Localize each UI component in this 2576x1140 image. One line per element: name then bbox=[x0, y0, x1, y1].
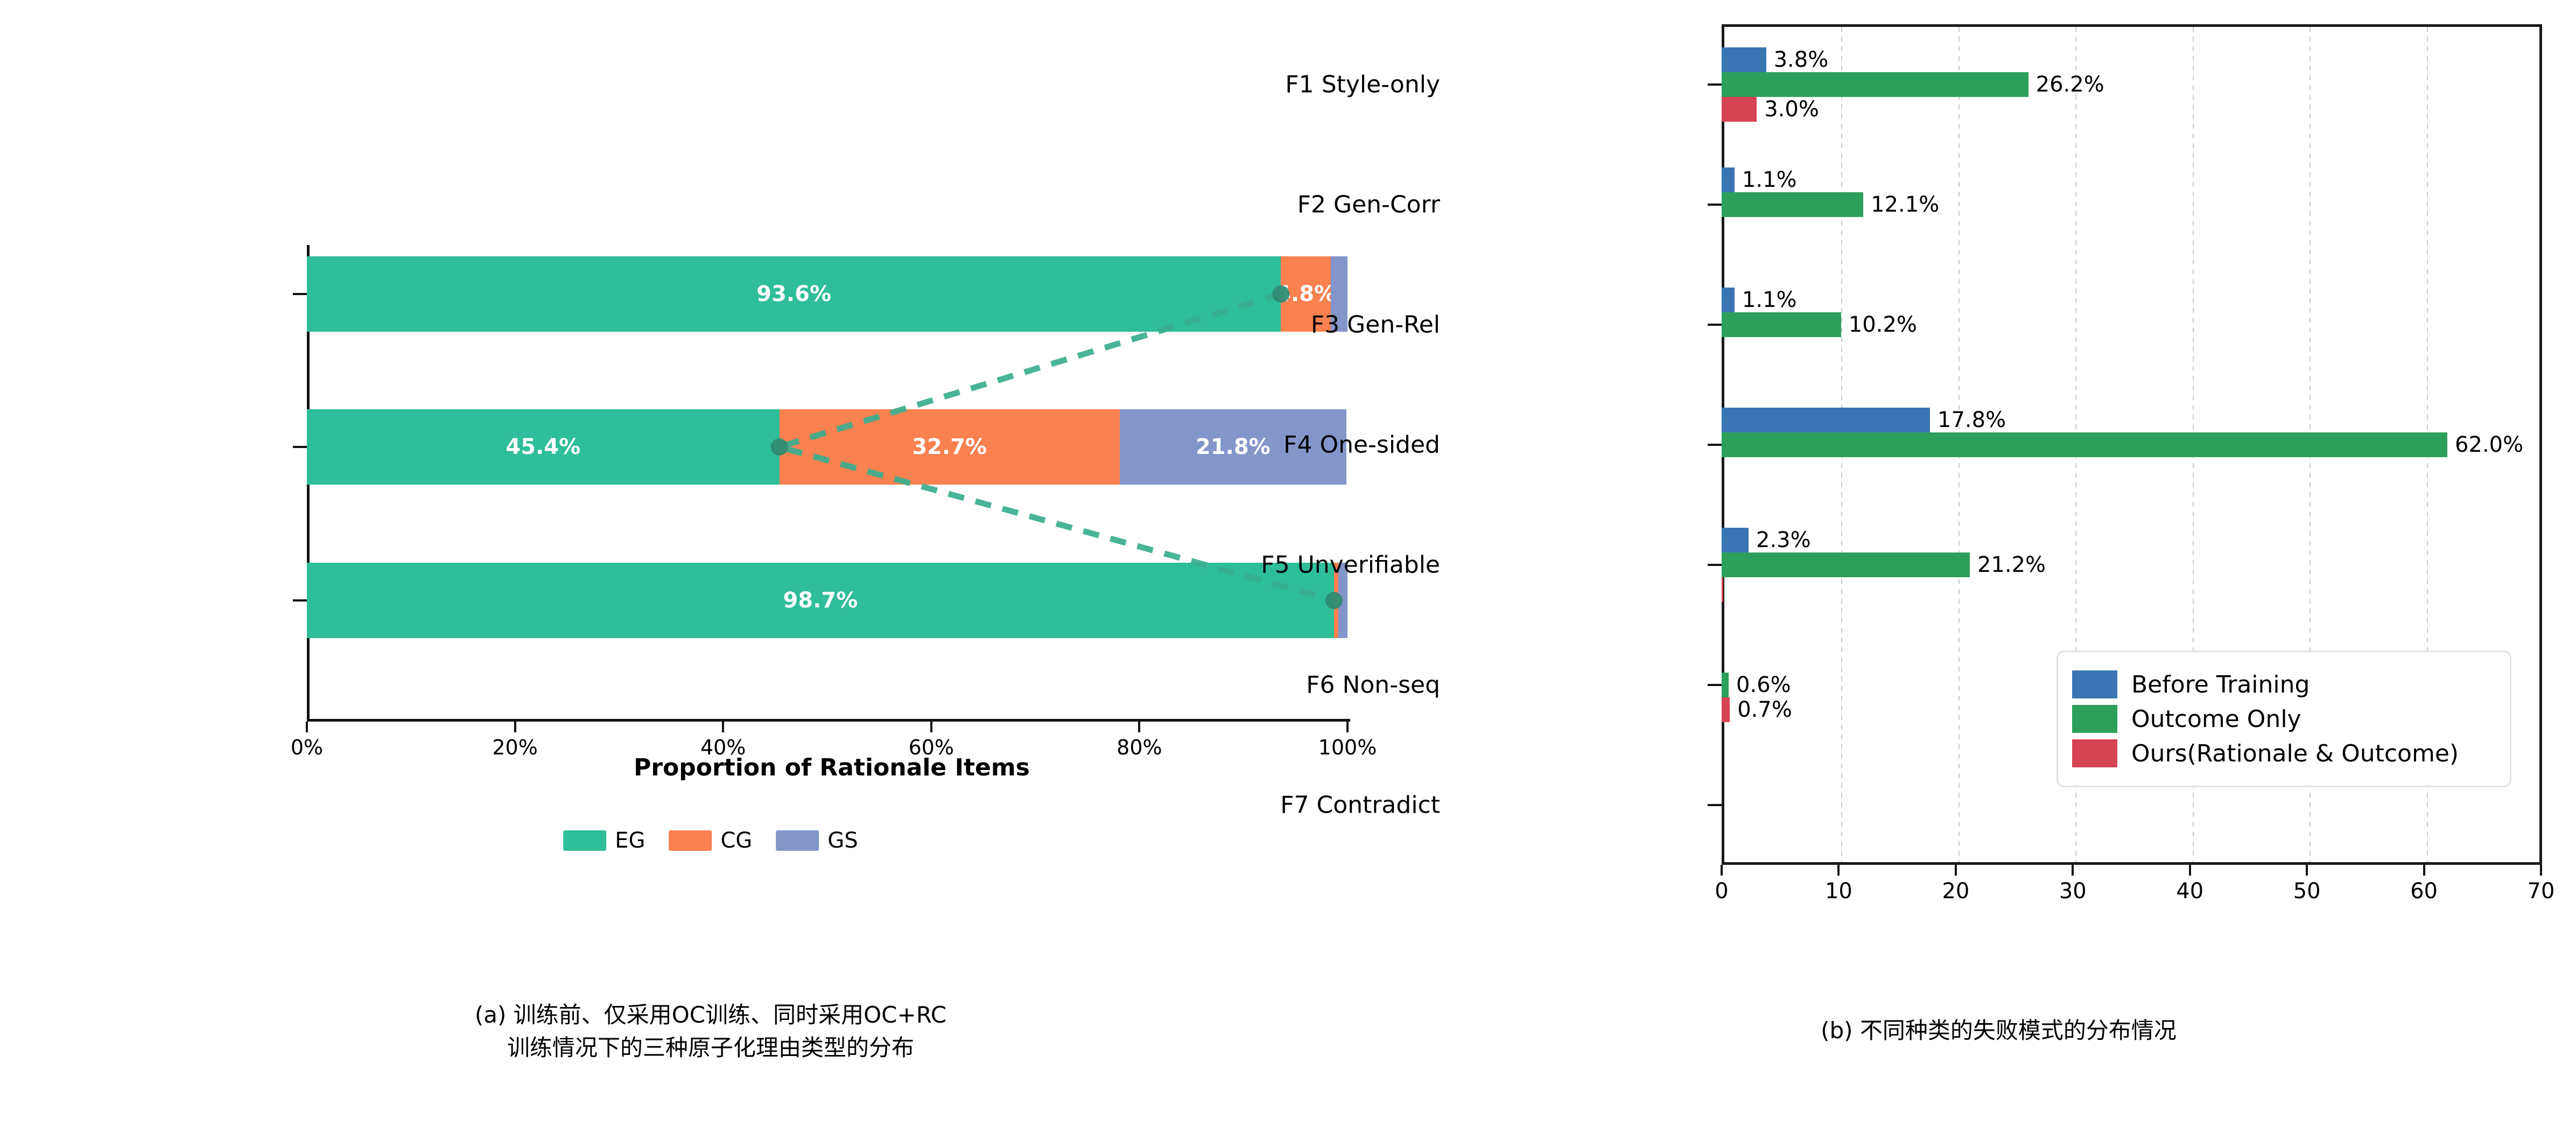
panel-b-bar bbox=[1722, 72, 2028, 97]
panel-b-y-label-1: F1 Style-only bbox=[1285, 71, 1440, 98]
panel-b-y-label-6: F6 Non-seq bbox=[1306, 671, 1440, 698]
panel-b-bar bbox=[1722, 192, 1863, 217]
panel-b-y-tick-mark bbox=[1708, 804, 1722, 806]
panel-b-bar bbox=[1722, 312, 1841, 337]
panel-b-legend-label: Before Training bbox=[2131, 671, 2310, 698]
panel-a-legend-swatch-cg bbox=[669, 830, 712, 851]
panel-a-bar-value-label: 4.8% bbox=[1276, 282, 1336, 306]
panel-b-x-tick-label: 10 bbox=[1825, 879, 1852, 904]
panel-b-y-tick-mark bbox=[1708, 564, 1722, 566]
panel-b-bar-value-label: 2.3% bbox=[1756, 528, 1811, 552]
panel-a-legend-label: CG bbox=[720, 828, 752, 853]
panel-a-x-tick-label: 20% bbox=[492, 736, 537, 759]
panel-b-x-tick-mark bbox=[2423, 865, 2425, 876]
panel-a-bar-value-label: 93.6% bbox=[756, 282, 831, 306]
panel-a-legend-swatch-eg bbox=[563, 830, 606, 851]
panel-b-bar bbox=[1722, 697, 1730, 722]
panel-a-caption: (a) 训练前、仅采用OC训练、同时采用OC+RC 训练情况下的三种原子化理由类… bbox=[0, 999, 1421, 1065]
panel-b-legend-item[interactable]: Ours(Rationale & Outcome) bbox=[2072, 739, 2496, 767]
panel-b-bar bbox=[1722, 552, 1970, 577]
panel-a-bar-segment-eg: 45.4% bbox=[307, 409, 780, 485]
panel-a-legend-swatch-gs bbox=[776, 830, 819, 851]
panel-a-legend: EGCGGS bbox=[563, 828, 858, 853]
panel-a-x-tick-mark bbox=[722, 722, 724, 732]
panel-a-x-tick-label: 80% bbox=[1117, 736, 1162, 759]
panel-b-legend: Before TrainingOutcome OnlyOurs(Rational… bbox=[2056, 651, 2511, 787]
panel-a-legend-item-eg[interactable]: EG bbox=[563, 828, 645, 853]
panel-b-y-tick-mark bbox=[1708, 83, 1722, 86]
panel-b-x-tick-label: 0 bbox=[1715, 879, 1728, 904]
panel-b-legend-swatch bbox=[2072, 739, 2117, 767]
panel-b-legend-swatch bbox=[2072, 670, 2117, 698]
panel-a-legend-item-gs[interactable]: GS bbox=[776, 828, 858, 853]
panel-a-caption-line-1: (a) 训练前、仅采用OC训练、同时采用OC+RC bbox=[0, 999, 1421, 1032]
panel-a-bar-segment-eg: 98.7% bbox=[307, 563, 1334, 638]
panel-b-bar bbox=[1722, 288, 1735, 312]
panel-b-y-label-2: F2 Gen-Corr bbox=[1297, 191, 1440, 218]
panel-b-x-tick-label: 50 bbox=[2293, 879, 2321, 904]
panel-a-bar-row: 93.6%4.8% bbox=[307, 256, 1347, 332]
panel-b-legend-swatch bbox=[2072, 705, 2117, 733]
panel-b-x-tick-mark bbox=[2189, 865, 2191, 876]
panel-b-bar bbox=[1722, 577, 1723, 602]
panel-b-bar-value-label: 0.6% bbox=[1736, 673, 1791, 697]
panel-a-legend-label: GS bbox=[827, 828, 858, 853]
panel-b-y-tick-mark bbox=[1708, 324, 1722, 326]
panel-b-legend-label: Outcome Only bbox=[2131, 705, 2301, 733]
panel-b-caption: (b) 不同种类的失败模式的分布情况 bbox=[1421, 1012, 2576, 1045]
panel-a-x-tick-mark bbox=[1138, 722, 1140, 732]
panel-b-bar-value-label: 3.8% bbox=[1774, 47, 1829, 72]
panel-b-x-tick-label: 20 bbox=[1942, 879, 1969, 904]
panel-a-legend-item-cg[interactable]: CG bbox=[669, 828, 752, 853]
panel-b-bar bbox=[1722, 97, 1757, 122]
panel-b-x-tick-label: 70 bbox=[2528, 879, 2555, 904]
panel-b-legend-item[interactable]: Outcome Only bbox=[2072, 705, 2496, 733]
panel-a-bar-row: 45.4%32.7%21.8% bbox=[307, 409, 1347, 485]
panel-b-bar bbox=[1722, 47, 1766, 72]
panel-b-bar-value-label: 1.1% bbox=[1742, 167, 1797, 192]
panel-b-bar-value-label: 1.1% bbox=[1742, 288, 1797, 312]
panel-b-bar bbox=[1722, 528, 1749, 552]
panel-b-bar-value-label: 10.2% bbox=[1849, 312, 1917, 337]
panel-b-y-label-3: F3 Gen-Rel bbox=[1311, 311, 1440, 338]
panel-a-x-tick-mark bbox=[1346, 722, 1349, 732]
panel-a-y-tick-mark bbox=[293, 446, 307, 448]
panel-a-x-axis-line bbox=[307, 719, 1350, 722]
panel-b-x-tick-label: 30 bbox=[2059, 879, 2087, 904]
panel-b-bar-value-label: 0.7% bbox=[1737, 697, 1792, 722]
panel-b-x-tick-mark bbox=[2072, 865, 2074, 876]
panel-b-y-tick-mark bbox=[1708, 444, 1722, 446]
panel-b-x-tick-mark bbox=[1721, 865, 1723, 876]
figure-root: Base ModelOC-OnlyOurs(OC+RC) 0%20%40%60%… bbox=[0, 0, 2576, 1140]
panel-a-x-tick-mark bbox=[306, 722, 308, 732]
panel-b-bar bbox=[1722, 167, 1735, 192]
panel-a-x-tick-mark bbox=[514, 722, 516, 732]
panel-b-bar-value-label: 17.8% bbox=[1938, 408, 2006, 432]
panel-a-x-tick-label: 0% bbox=[291, 736, 323, 759]
panel-b-grouped-bar-chart: F1 Style-onlyF2 Gen-CorrF3 Gen-RelF4 One… bbox=[1421, 0, 2576, 1140]
panel-a-legend-label: EG bbox=[615, 828, 645, 853]
panel-a-x-tick-label: 100% bbox=[1318, 736, 1377, 759]
panel-a-bar-segment-eg: 93.6% bbox=[307, 256, 1281, 332]
panel-b-bar bbox=[1722, 408, 1930, 432]
panel-b-y-label-5: F5 Unverifiable bbox=[1261, 551, 1440, 578]
panel-b-bar-value-label: 21.2% bbox=[1977, 552, 2046, 577]
panel-b-bar bbox=[1722, 432, 2447, 457]
panel-b-y-tick-mark bbox=[1708, 204, 1722, 206]
panel-a-bar-row: 98.7% bbox=[307, 563, 1347, 638]
panel-a-bar-value-label: 98.7% bbox=[783, 588, 858, 613]
panel-b-y-label-7: F7 Contradict bbox=[1280, 791, 1440, 819]
panel-b-y-tick-mark bbox=[1708, 684, 1722, 686]
panel-b-legend-label: Ours(Rationale & Outcome) bbox=[2131, 740, 2459, 767]
panel-a-x-axis-title: Proportion of Rationale Items bbox=[634, 754, 1030, 781]
panel-b-bar bbox=[1722, 673, 1729, 697]
panel-a-bar-value-label: 21.8% bbox=[1196, 435, 1271, 459]
panel-b-x-tick-label: 60 bbox=[2410, 879, 2438, 904]
panel-a-caption-line-2: 训练情况下的三种原子化理由类型的分布 bbox=[0, 1032, 1421, 1065]
panel-b-x-tick-label: 40 bbox=[2176, 879, 2203, 904]
panel-b-bar-value-label: 62.0% bbox=[2455, 432, 2523, 457]
panel-b-x-tick-mark bbox=[1955, 865, 1957, 876]
panel-a-x-tick-mark bbox=[930, 722, 932, 732]
panel-a-stacked-bar-chart: Base ModelOC-OnlyOurs(OC+RC) 0%20%40%60%… bbox=[0, 0, 1421, 1140]
panel-b-x-tick-mark bbox=[2540, 865, 2542, 876]
panel-a-y-tick-mark bbox=[293, 599, 307, 602]
panel-b-x-tick-mark bbox=[2306, 865, 2308, 876]
panel-b-y-label-4: F4 One-sided bbox=[1283, 431, 1440, 458]
panel-a-bar-value-label: 45.4% bbox=[506, 435, 580, 459]
panel-a-bar-value-label: 32.7% bbox=[912, 435, 987, 459]
panel-a-bar-segment-cg: 32.7% bbox=[780, 409, 1120, 485]
panel-b-x-tick-mark bbox=[1837, 865, 1840, 876]
panel-b-bar-value-label: 3.0% bbox=[1764, 97, 1819, 122]
panel-b-bar-value-label: 26.2% bbox=[2036, 72, 2104, 97]
panel-b-legend-item[interactable]: Before Training bbox=[2072, 670, 2496, 698]
panel-a-y-tick-mark bbox=[293, 293, 307, 295]
panel-b-bar-value-label: 12.1% bbox=[1871, 192, 1939, 217]
